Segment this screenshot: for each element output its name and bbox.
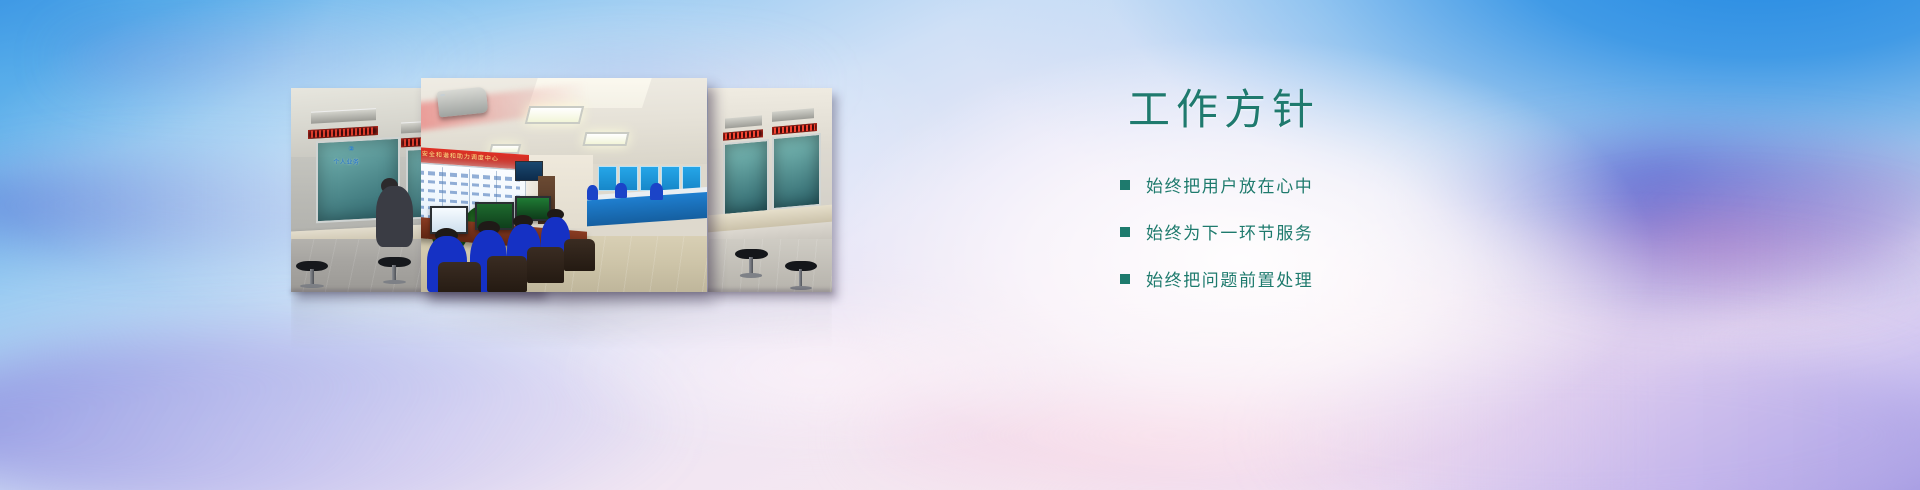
square-bullet-icon	[1120, 274, 1130, 284]
banner-text-block: 工作方针 始终把用户放在心中 始终为下一环节服务 始终把问题前置处理	[1120, 88, 1640, 291]
list-item-label: 始终把用户放在心中	[1146, 172, 1313, 197]
page-title: 工作方针	[1128, 88, 1640, 132]
list-item-label: 始终把问题前置处理	[1146, 266, 1313, 291]
square-bullet-icon	[1120, 180, 1130, 190]
policy-bullet-list: 始终把用户放在心中 始终为下一环节服务 始终把问题前置处理	[1120, 172, 1640, 291]
counter-sign-label: 个人业务	[333, 157, 359, 166]
square-bullet-icon	[1120, 227, 1130, 237]
service-hall-photo	[708, 88, 832, 292]
list-item: 始终把用户放在心中	[1120, 172, 1640, 197]
list-item-label: 始终为下一环节服务	[1146, 219, 1313, 244]
photo-collage: ② 个人业务	[0, 0, 900, 360]
dispatch-room-photo: 安全和谐和助力调度中心	[421, 78, 707, 292]
list-item: 始终为下一环节服务	[1120, 219, 1640, 244]
hero-banner: ② 个人业务	[0, 0, 1920, 490]
list-item: 始终把问题前置处理	[1120, 266, 1640, 291]
